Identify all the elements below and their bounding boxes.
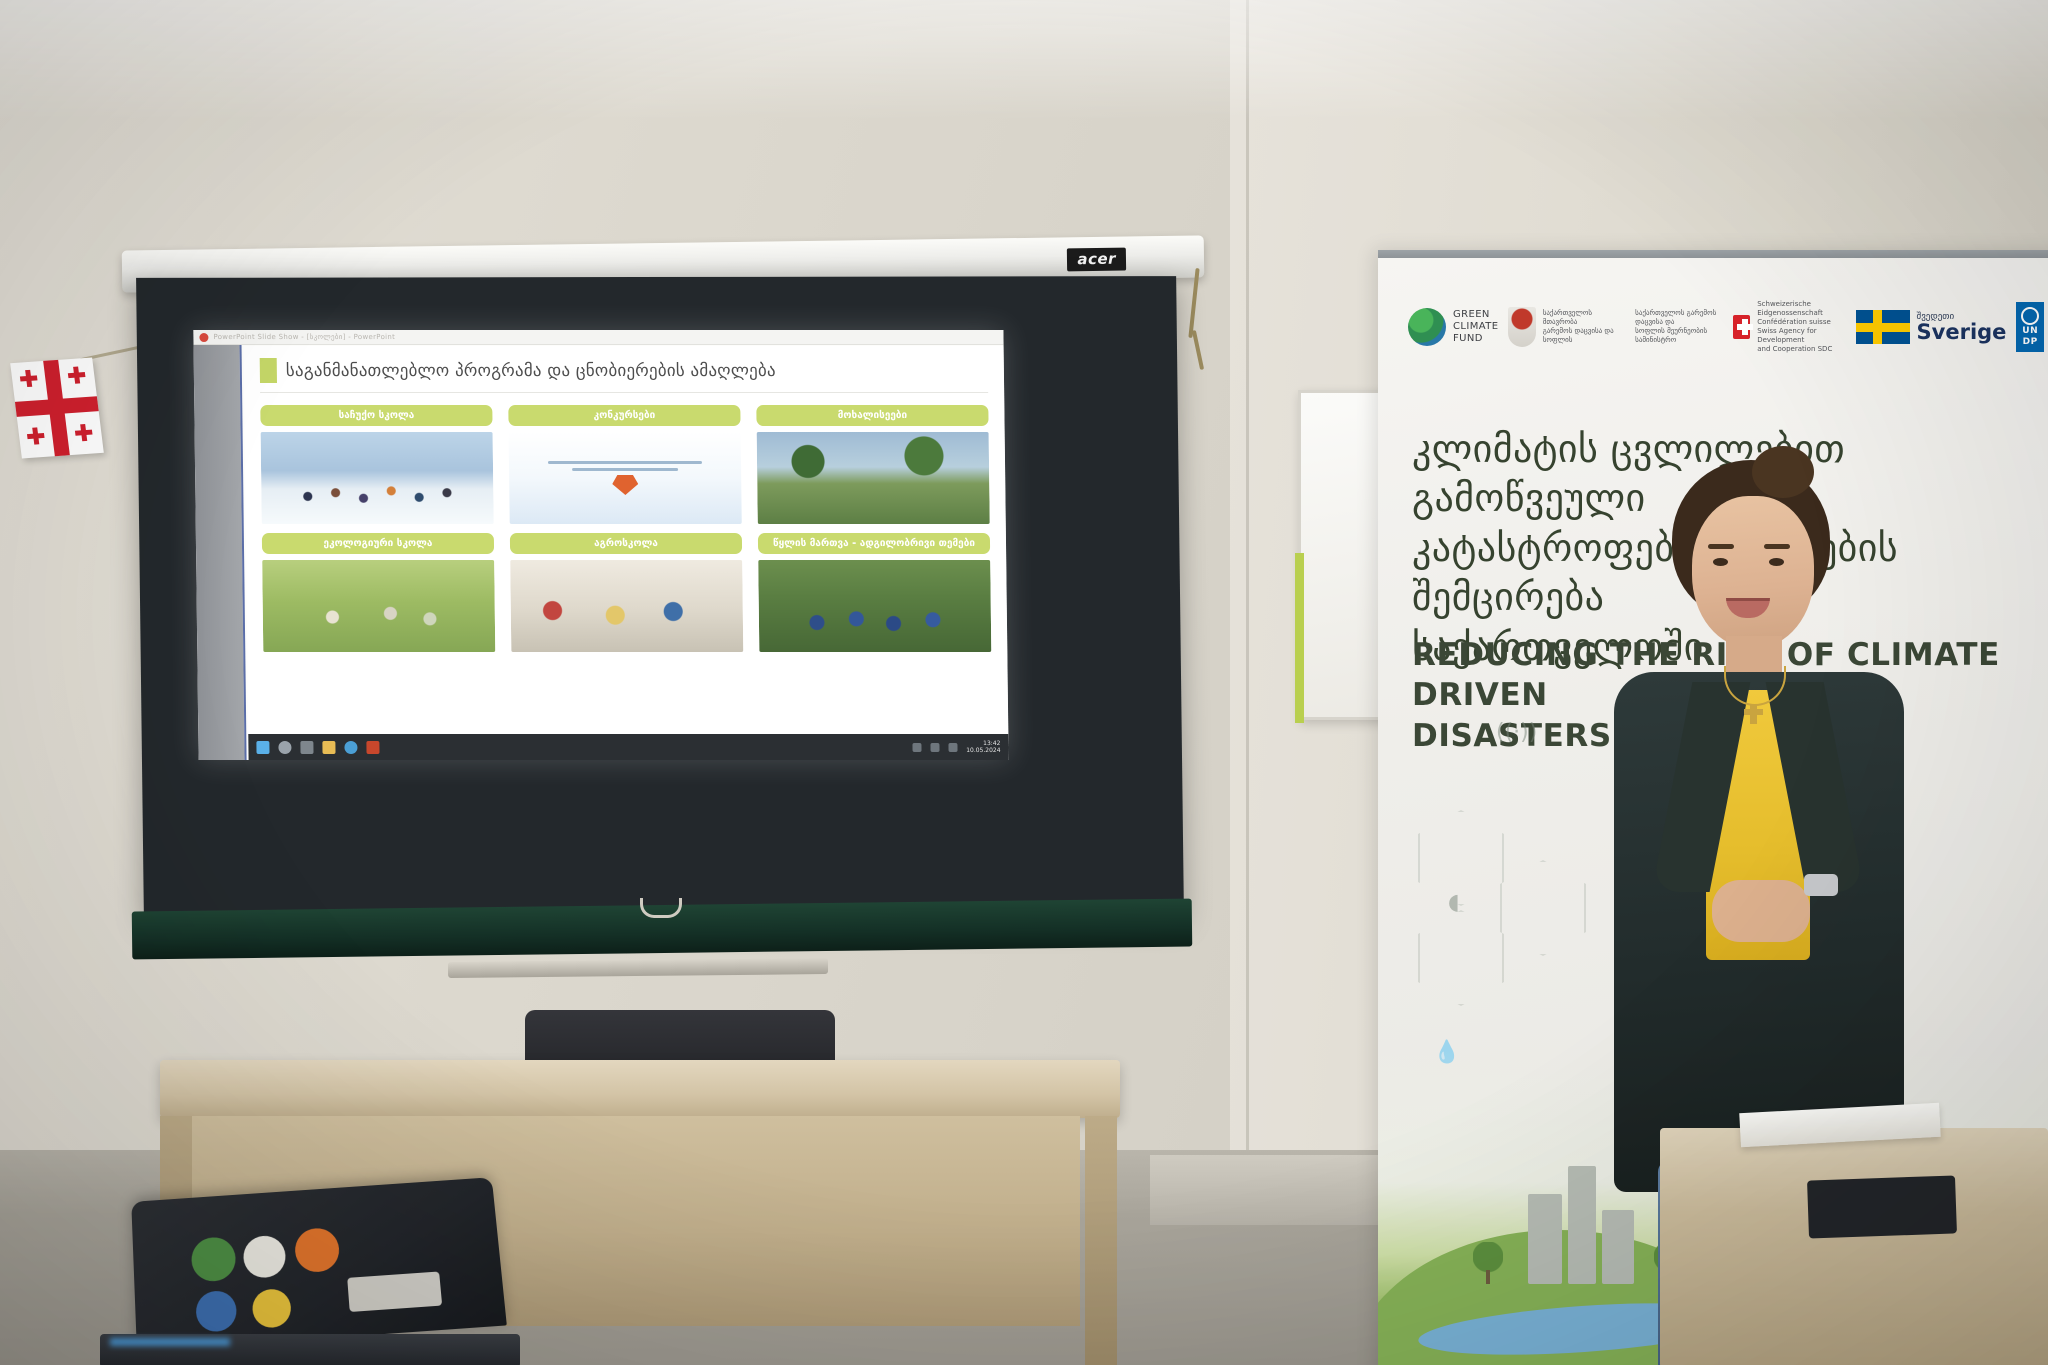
sticker-green [191,1236,237,1283]
slide-canvas: საგანმანათლებლო პროგრამა და ცნობიერების … [244,346,1009,760]
swiss-line-3: Swiss Agency for Development [1757,327,1845,345]
cell-photo-eco-school [262,560,495,652]
cell-label: აგროსკოლა [510,533,742,554]
swiss-line-2: Confédération suisse [1757,318,1845,327]
swedish-flag-icon [1856,310,1910,344]
slide-title: საგანმანათლებლო პროგრამა და ცნობიერების … [286,361,776,381]
cell-label: საჩუქო სკოლა [260,405,492,426]
eye-right [1769,558,1784,566]
eye-left [1713,558,1728,566]
wall-corner-seam [1246,0,1249,1160]
cell-label: კონკურსები [508,405,740,426]
cell-label: წყლის მართვა - ადგილობრივი თემები [758,533,990,554]
ministry-line-1: საქართველოს გარემოს დაცვისა და [1635,309,1723,327]
ceiling-light-falloff [0,0,2048,120]
gov-line-2: გარემოს დაცვისა და სოფლის [1543,327,1625,345]
ministry-line-2: სოფლის მეურნეობის სამინისტრო [1635,327,1723,345]
acer-brand-badge: acer [1067,248,1126,272]
cell-label: ეკოლოგიური სკოლა [262,533,494,554]
grid-cell: საჩუქო სკოლა [260,405,493,524]
poster-text-line [572,468,678,471]
laptop-lid [131,1177,507,1351]
swiss-line-1: Schweizerische Eidgenossenschaft [1757,300,1845,318]
network-icon[interactable] [930,742,939,751]
swiss-line-4: and Cooperation SDC [1757,345,1845,354]
un-emblem-icon [2021,307,2039,325]
globe-icon [1408,308,1446,346]
cell-photo-group-snow [261,432,494,524]
desk-top-surface [160,1060,1120,1118]
gauge-icon: ◖ [1448,890,1460,915]
swiss-cross-icon [1733,315,1750,339]
artwork-building [1568,1166,1596,1284]
flag-small-cross-tl [19,369,38,387]
slide-thumbnail-sidebar[interactable] [194,345,247,760]
undp-letters-bottom: DP [2023,338,2038,347]
slide-header: საგანმანათლებლო პროგრამა და ცნობიერების … [260,358,988,393]
swiss-cooperation-logo: Schweizerische Eidgenossenschaft Confédé… [1733,300,1846,355]
gov-logo-text: საქართველოს მთავრობა გარემოს დაცვისა და … [1543,309,1625,345]
gov-line-1: საქართველოს მთავრობა [1543,309,1625,327]
georgian-national-flag [10,357,104,458]
flag-small-cross-bl [26,427,45,445]
powerpoint-icon[interactable] [366,740,379,753]
powerpoint-titlebar: PowerPoint Slide Show - [სკოლები] - Powe… [193,330,1003,345]
banner-top-rail [1378,250,2048,258]
flag-small-cross-br [74,424,93,442]
sticker-white [242,1235,286,1279]
start-icon[interactable] [256,740,269,753]
face [1692,496,1814,648]
grid-cell: ეკოლოგიური სკოლა [262,533,495,652]
classroom-scene: acer PowerPoint Slide Show - [სკოლები] -… [0,0,2048,1365]
eyebrow-left [1708,544,1734,549]
gcf-line-2: CLIMATE [1453,321,1498,333]
screen-pull-handle[interactable] [640,898,682,918]
sweden-sverige-logo: შვედეთი Sverige [1856,310,2007,344]
hexagon-decoration [1500,860,1586,956]
grid-cell: კონკურსები [508,405,741,524]
hair-bun [1752,446,1814,498]
eyebrow-right [1764,544,1790,549]
georgia-coat-of-arms-icon [1508,307,1535,347]
sticker-yellow [251,1288,292,1329]
cell-photo-volunteers [757,432,990,524]
side-table [1660,1128,2048,1365]
chevron-up-icon[interactable] [912,742,921,751]
artwork-building [1528,1194,1562,1284]
projected-powerpoint-slide: PowerPoint Slide Show - [სკოლები] - Powe… [193,330,1008,760]
undp-letters-top: UN [2022,327,2038,336]
cell-photo-contest-poster [509,432,742,524]
cell-photo-agro-school [510,560,743,652]
notebook [1807,1175,1957,1238]
flag-small-cross-tr [67,366,86,384]
desk-leg-right [1085,1116,1117,1365]
ministry-environment-logo: საქართველოს გარემოს დაცვისა და სოფლის მე… [1635,309,1723,345]
artwork-tree [1473,1242,1503,1284]
grid-cell: მოხალისეები [756,405,989,524]
task-view-icon[interactable] [300,740,313,753]
sticker-orange [294,1227,341,1273]
gcf-line-1: GREEN [1453,309,1498,321]
folder-icon[interactable] [322,740,335,753]
sweden-label-en: Sverige [1917,322,2007,343]
slide-content-grid: საჩუქო სკოლა კონკურსები მოხალისეები [260,405,991,652]
clasped-hands [1712,880,1810,942]
sticker-grey-text [347,1271,442,1312]
wristwatch [1804,874,1838,896]
laptop-indicator-light [110,1338,230,1346]
browser-icon[interactable] [344,740,357,753]
ministry-logo-text: საქართველოს გარემოს დაცვისა და სოფლის მე… [1635,309,1723,345]
gcf-logo-text: GREEN CLIMATE FUND [1453,309,1498,346]
search-icon[interactable] [278,740,291,753]
cross-pendant [1750,704,1757,724]
grid-cell: წყლის მართვა - ადგილობრივი თემები [758,533,991,652]
taskbar-clock[interactable]: 13:42 10.05.2024 [966,739,1001,754]
undp-logo: UN DP [2016,302,2044,352]
swiss-logo-text: Schweizerische Eidgenossenschaft Confédé… [1757,300,1845,355]
government-of-georgia-logo: საქართველოს მთავრობა გარემოს დაცვისა და … [1508,307,1625,347]
powerpoint-app-icon [199,333,208,342]
flag-horizontal-cross [15,396,99,417]
windows-taskbar[interactable]: 13:42 10.05.2024 [248,734,1008,760]
clock-date: 10.05.2024 [966,747,1000,754]
clock-time: 13:42 [966,739,1000,746]
cell-photo-water-management [758,560,991,652]
slide-title-accent-mark [260,358,277,383]
banner-logo-strip: GREEN CLIMATE FUND საქართველოს მთავრობა … [1408,282,2044,372]
hexagon-decoration [1418,910,1504,1006]
laptop-with-stickers [100,1188,500,1365]
wifi-signal-icon: ((·)) [1496,720,1537,745]
poster-text-line [548,461,702,464]
sweden-logo-text: შვედეთი Sverige [1917,312,2007,343]
powerpoint-window-title: PowerPoint Slide Show - [სკოლები] - Powe… [213,333,395,341]
volume-icon[interactable] [948,742,957,751]
green-climate-fund-logo: GREEN CLIMATE FUND [1408,308,1498,346]
gcf-line-3: FUND [1453,333,1498,345]
cell-label: მოხალისეები [756,405,988,426]
poster-illustration-icon [612,475,638,495]
sticker-blue [195,1290,237,1333]
hexagon-decoration [1418,810,1504,906]
green-tape-strip [1295,553,1304,723]
grid-cell: აგროსკოლა [510,533,743,652]
